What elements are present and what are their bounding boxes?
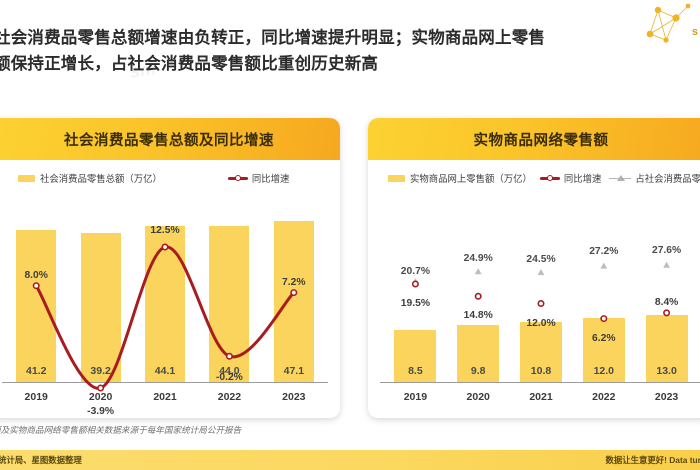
legend-item-share-line[interactable]: 占社会消费品零售额比重 <box>609 171 700 185</box>
card-header: 社会消费品零售总额及同比增速 <box>0 118 340 160</box>
x-tick-label: 2020 <box>447 391 510 403</box>
source-note: 额及实物商品网络零售额相关数据来源于每年国家统计局公开报告 <box>0 424 241 436</box>
x-tick-label: 2020 <box>68 391 132 403</box>
headline-line-2: 额保持正增长，占社会消费品零售额比重创历史新高 <box>0 52 700 78</box>
bar-value-label: 39.2 <box>81 365 121 377</box>
x-tick-label: 2021 <box>133 391 197 403</box>
x-axis <box>2 382 328 383</box>
x-tick-label: 2019 <box>384 391 447 403</box>
x-axis <box>380 382 700 383</box>
bar[interactable]: 9.8 <box>457 325 499 383</box>
legend-gray-line-marker-icon <box>609 174 631 183</box>
bar[interactable]: 44.0 <box>209 226 249 383</box>
chart-plot-area: 8.59.810.812.013.0 20192020202120222023 … <box>368 185 700 418</box>
bar[interactable]: 12.0 <box>583 318 625 383</box>
card-header: 实物商品网络零售额 <box>368 118 700 160</box>
data-point-label: 12.0% <box>526 318 555 329</box>
bar-column[interactable]: 44.1 <box>133 226 197 383</box>
bar-column[interactable]: 8.5 <box>384 330 447 383</box>
constellation-icon <box>636 0 698 50</box>
data-point-label: -0.2% <box>216 372 243 383</box>
data-point-label: 24.9% <box>464 253 493 264</box>
chart-card-retail-total: 社会消费品零售总额及同比增速 社会消费品零售总额（万亿） 同比增速 41.239… <box>0 118 340 418</box>
bar-column[interactable]: 10.8 <box>510 322 573 383</box>
bar-column[interactable]: 39.2 <box>68 233 132 383</box>
bar-column[interactable]: 12.0 <box>572 318 635 383</box>
legend-bar-swatch-icon <box>388 175 405 182</box>
legend-item-bar[interactable]: 实物商品网上零售额（万亿） <box>388 171 532 185</box>
legend-label: 占社会消费品零售额比重 <box>635 171 700 185</box>
bar[interactable]: 10.8 <box>520 322 562 383</box>
bar[interactable]: 47.1 <box>274 221 314 383</box>
data-point-label: 14.8% <box>464 310 493 321</box>
bar[interactable]: 39.2 <box>81 233 121 383</box>
bar-value-label: 44.1 <box>145 365 185 377</box>
footer-slogan: 数据让生意更好! Data turn <box>606 454 700 466</box>
data-point-label: 19.5% <box>401 298 430 309</box>
bar[interactable]: 13.0 <box>646 315 688 383</box>
x-axis-labels: 20192020202120222023 <box>0 391 340 403</box>
x-tick-label: 2022 <box>572 391 635 403</box>
bar[interactable]: 8.5 <box>394 330 436 383</box>
legend-item-line[interactable]: 同比增速 <box>228 171 290 185</box>
legend-label: 社会消费品零售总额（万亿） <box>40 171 162 185</box>
legend-line-marker-icon <box>228 174 248 183</box>
logo-mark: s <box>692 26 698 38</box>
data-point-label: -3.9% <box>87 406 114 417</box>
bar-column[interactable]: 47.1 <box>262 221 326 383</box>
bar-column[interactable]: 13.0 <box>635 315 698 383</box>
footer-source: 统计局、星图数据整理 <box>0 454 82 466</box>
x-axis-labels: 20192020202120222023 <box>368 391 700 403</box>
card-title: 社会消费品零售总额及同比增速 <box>56 129 274 150</box>
x-tick-label: 2022 <box>197 391 261 403</box>
bar-series: 41.239.244.144.047.1 <box>0 213 340 383</box>
data-point-label: 27.6% <box>652 245 681 256</box>
bar-column[interactable]: 44.0 <box>197 226 261 383</box>
data-point-label: 27.2% <box>589 246 618 257</box>
bar-column[interactable]: 41.2 <box>4 230 68 383</box>
x-tick-label: 2019 <box>4 391 68 403</box>
page-footer: 统计局、星图数据整理 数据让生意更好! Data turn <box>0 450 700 470</box>
data-point-label: 8.4% <box>655 297 678 308</box>
bar-value-label: 9.8 <box>457 365 499 377</box>
bar-value-label: 10.8 <box>520 365 562 377</box>
legend-bar-swatch-icon <box>18 175 35 182</box>
data-point-label: 7.2% <box>282 277 305 288</box>
legend-label: 同比增速 <box>252 171 290 185</box>
data-point-label: 20.7% <box>401 266 430 277</box>
chart-plot-area: 41.239.244.144.047.1 2019202020212022202… <box>0 185 340 418</box>
chart-legend: 实物商品网上零售额（万亿） 同比增速 占社会消费品零售额比重 <box>368 160 700 185</box>
data-point-label: 24.5% <box>526 254 555 265</box>
legend-label: 实物商品网上零售额（万亿） <box>410 171 532 185</box>
bar-value-label: 13.0 <box>646 365 688 377</box>
legend-item-bar[interactable]: 社会消费品零售总额（万亿） <box>18 171 162 185</box>
legend-label: 同比增速 <box>564 171 602 185</box>
x-tick-label: 2023 <box>262 391 326 403</box>
chart-legend: 社会消费品零售总额（万亿） 同比增速 <box>0 160 340 185</box>
x-tick-label: 2021 <box>510 391 573 403</box>
bar-value-label: 8.5 <box>394 365 436 377</box>
legend-line-marker-icon <box>540 174 560 183</box>
headline-line-1: 社会消费品零售总额增速由负转正，同比增速提升明显；实物商品网上零售 <box>0 26 700 52</box>
card-title: 实物商品网络零售额 <box>474 129 609 150</box>
constellation-logo: s <box>636 0 698 50</box>
data-point-label: 12.5% <box>150 225 179 236</box>
bar-value-label: 41.2 <box>16 365 56 377</box>
chart-card-online-retail: 实物商品网络零售额 实物商品网上零售额（万亿） 同比增速 占社会消费品零售额比重… <box>368 118 700 418</box>
data-point-label: 6.2% <box>592 333 615 344</box>
bar-value-label: 12.0 <box>583 365 625 377</box>
bar-column[interactable]: 9.8 <box>447 325 510 383</box>
bar[interactable]: 41.2 <box>16 230 56 383</box>
data-point-marker[interactable] <box>98 385 103 390</box>
bar-value-label: 47.1 <box>274 365 314 377</box>
legend-item-line[interactable]: 同比增速 <box>540 171 602 185</box>
data-point-label: 8.0% <box>24 270 47 281</box>
x-tick-label: 2023 <box>635 391 698 403</box>
page-headline: 社会消费品零售总额增速由负转正，同比增速提升明显；实物商品网上零售 额保持正增长… <box>0 26 700 77</box>
bar[interactable]: 44.1 <box>145 226 185 383</box>
